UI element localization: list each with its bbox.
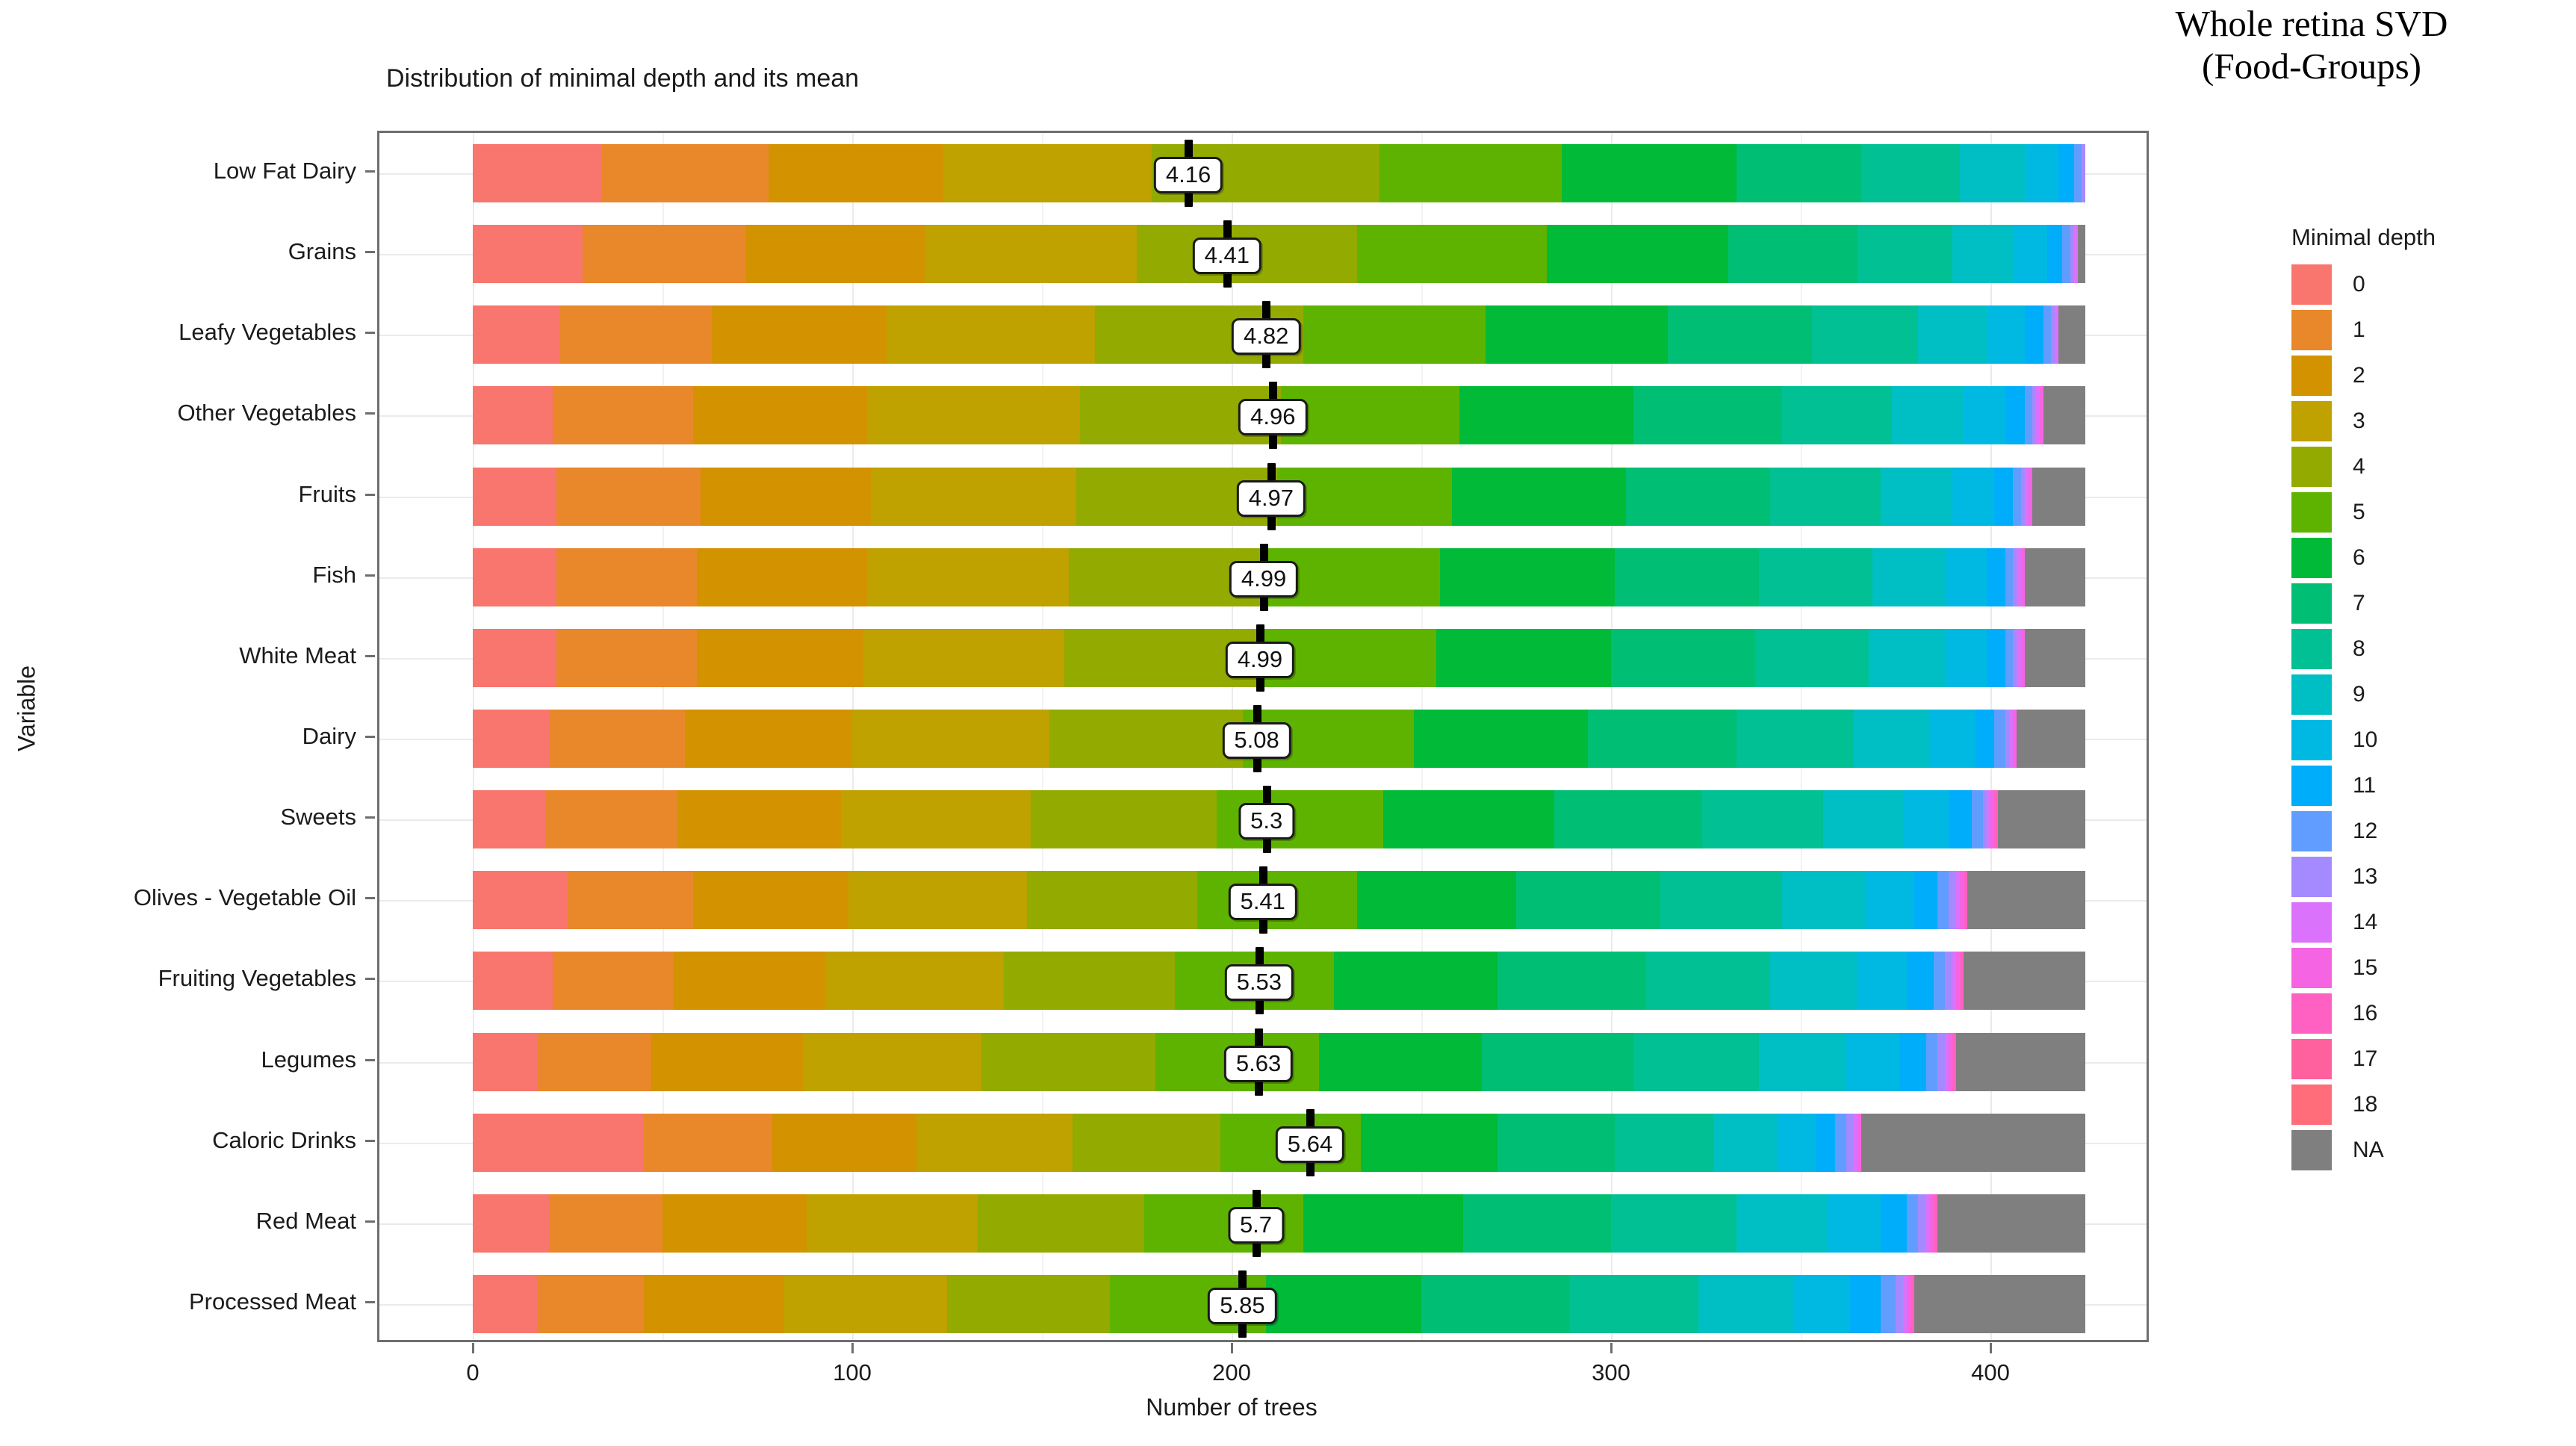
bar-segment[interactable] <box>1357 871 1516 929</box>
bar-segment[interactable] <box>916 1114 1072 1172</box>
bar-segment[interactable] <box>693 871 848 929</box>
bar-segment[interactable] <box>602 144 769 202</box>
x-axis-tick-mark <box>1231 1343 1233 1353</box>
bar-segment[interactable] <box>1759 548 1872 606</box>
bar-segment[interactable] <box>1357 225 1547 283</box>
bar-segment[interactable] <box>568 871 693 929</box>
mean-depth-label: 5.7 <box>1228 1207 1284 1244</box>
bar-segment[interactable] <box>1949 871 1956 929</box>
bar-segment[interactable] <box>1645 952 1771 1010</box>
bar-segment[interactable] <box>1998 790 2085 848</box>
bar-row[interactable] <box>379 1114 2147 1172</box>
legend-color-swatch <box>2290 582 2333 625</box>
bar-segment[interactable] <box>1516 871 1660 929</box>
bar-segment[interactable] <box>537 1033 651 1091</box>
bar-segment[interactable] <box>1857 952 1907 1010</box>
legend-item[interactable]: 8 <box>2290 626 2536 671</box>
bar-segment[interactable] <box>1588 710 1736 768</box>
y-axis-tick-label: Other Vegetables <box>177 400 356 426</box>
bar-segment[interactable] <box>871 468 1076 526</box>
bar-segment[interactable] <box>1073 1114 1220 1172</box>
legend-color-swatch <box>2290 536 2333 580</box>
legend-item[interactable]: 5 <box>2290 489 2536 535</box>
bar-segment[interactable] <box>1759 1033 1846 1091</box>
stacked-bar[interactable] <box>473 225 2085 283</box>
legend-color-swatch <box>2290 901 2333 944</box>
legend-color-swatch <box>2290 400 2333 443</box>
bar-segment[interactable] <box>1611 1194 1737 1253</box>
bar-segment[interactable] <box>693 386 868 444</box>
legend-item-label: 2 <box>2353 363 2365 388</box>
bar-segment[interactable] <box>473 1194 549 1253</box>
bar-segment[interactable] <box>1835 1114 1846 1172</box>
bar-segment[interactable] <box>772 1114 916 1172</box>
bar-segment[interactable] <box>978 1194 1145 1253</box>
bar-segment[interactable] <box>803 1033 981 1091</box>
legend-color-swatch <box>2290 992 2333 1035</box>
bar-segment[interactable] <box>473 225 583 283</box>
bar-segment[interactable] <box>2005 548 2013 606</box>
bar-segment[interactable] <box>697 629 864 687</box>
x-axis-tick-mark <box>1990 1343 1992 1353</box>
bar-segment[interactable] <box>1892 386 1964 444</box>
bar-segment[interactable] <box>1319 1033 1482 1091</box>
bar-segment[interactable] <box>674 952 825 1010</box>
y-axis-tick-label: Fruits <box>299 481 357 508</box>
bar-segment[interactable] <box>1949 790 1971 848</box>
bar-segment[interactable] <box>2043 386 2085 444</box>
mean-depth-label: 4.99 <box>1229 561 1298 598</box>
bar-segment[interactable] <box>1952 468 1994 526</box>
bar-segment[interactable] <box>2013 468 2020 526</box>
bar-segment[interactable] <box>769 144 943 202</box>
bar-segment[interactable] <box>1770 952 1857 1010</box>
bar-segment[interactable] <box>1816 1114 1834 1172</box>
legend-item[interactable]: 11 <box>2290 763 2536 808</box>
bar-segment[interactable] <box>662 1194 807 1253</box>
bar-segment[interactable] <box>1459 386 1634 444</box>
bar-segment[interactable] <box>1421 1275 1569 1333</box>
bar-segment[interactable] <box>1049 710 1243 768</box>
bar-segment[interactable] <box>1896 1275 1903 1333</box>
bar-segment[interactable] <box>2058 144 2073 202</box>
bar-segment[interactable] <box>473 1275 537 1333</box>
bar-segment[interactable] <box>473 952 553 1010</box>
y-axis-tick-mark <box>365 251 375 253</box>
bar-segment[interactable] <box>746 225 925 283</box>
bar-segment[interactable] <box>644 1114 773 1172</box>
y-axis-tick-mark <box>365 897 375 899</box>
bar-segment[interactable] <box>867 548 1068 606</box>
legend-item-label: 10 <box>2353 727 2377 753</box>
legend-item[interactable]: 2 <box>2290 353 2536 398</box>
mean-depth-label: 4.97 <box>1237 480 1306 517</box>
bar-segment[interactable] <box>1440 548 1615 606</box>
bar-segment[interactable] <box>2025 548 2085 606</box>
y-axis-tick-mark <box>365 736 375 738</box>
bar-segment[interactable] <box>473 790 545 848</box>
legend-color-swatch <box>2290 263 2333 306</box>
bar-row[interactable] <box>379 144 2147 202</box>
bar-segment[interactable] <box>1937 1194 2085 1253</box>
bar-segment[interactable] <box>943 144 1152 202</box>
legend-item-label: 11 <box>2353 773 2376 798</box>
y-axis-tick-mark <box>365 978 375 980</box>
y-axis-tick-mark <box>365 655 375 657</box>
bar-segment[interactable] <box>1547 225 1729 283</box>
bar-segment[interactable] <box>1918 1194 1925 1253</box>
bar-segment[interactable] <box>1782 871 1866 929</box>
bar-segment[interactable] <box>473 629 556 687</box>
bar-segment[interactable] <box>1987 548 2005 606</box>
bar-segment[interactable] <box>1869 629 1945 687</box>
bar-segment[interactable] <box>1850 1275 1881 1333</box>
bar-segment[interactable] <box>887 305 1095 364</box>
bar-segment[interactable] <box>560 305 712 364</box>
bar-segment[interactable] <box>1281 386 1459 444</box>
bar-segment[interactable] <box>1846 1033 1899 1091</box>
bar-segment[interactable] <box>1914 1275 2085 1333</box>
legend-items: 0123456789101112131415161718NA <box>2290 261 2536 1173</box>
bar-segment[interactable] <box>549 710 686 768</box>
plot-area: 4.164.414.824.964.974.994.995.085.35.415… <box>379 133 2147 1340</box>
legend-item-label: 7 <box>2353 591 2365 616</box>
y-axis-tick-label: Grains <box>288 238 356 265</box>
page-title-line-2: (Food-Groups) <box>2073 46 2551 88</box>
legend-item-label: 15 <box>2353 955 2377 981</box>
y-axis-tick-label: Fish <box>312 562 356 589</box>
stacked-bar[interactable] <box>473 144 2085 202</box>
bar-segment[interactable] <box>852 710 1049 768</box>
bar-segment[interactable] <box>1854 710 1930 768</box>
bar-segment[interactable] <box>1569 1275 1698 1333</box>
y-axis-tick-label: Fruiting Vegetables <box>158 965 356 992</box>
legend-color-swatch <box>2290 810 2333 853</box>
bar-segment[interactable] <box>1334 952 1497 1010</box>
bar-segment[interactable] <box>556 629 697 687</box>
bar-segment[interactable] <box>1994 468 2013 526</box>
bar-segment[interactable] <box>1498 952 1645 1010</box>
bar-segment[interactable] <box>1266 1275 1421 1333</box>
bar-segment[interactable] <box>553 952 674 1010</box>
bar-segment[interactable] <box>537 1275 643 1333</box>
y-axis-tick-mark <box>365 816 375 819</box>
bar-segment[interactable] <box>1994 710 2005 768</box>
bar-segment[interactable] <box>549 1194 662 1253</box>
mean-depth-label: 4.96 <box>1238 399 1307 435</box>
bar-segment[interactable] <box>925 225 1137 283</box>
bar-segment[interactable] <box>1861 144 1960 202</box>
legend-item-label: 3 <box>2353 409 2365 434</box>
legend-color-swatch <box>2290 855 2333 899</box>
bar-segment[interactable] <box>1452 468 1627 526</box>
legend-item-label: 5 <box>2353 500 2365 525</box>
bar-segment[interactable] <box>1486 305 1668 364</box>
bar-segment[interactable] <box>1846 1114 1854 1172</box>
bar-segment[interactable] <box>556 548 697 606</box>
y-axis-tick-label: Sweets <box>280 804 356 831</box>
legend-color-swatch <box>2290 354 2333 397</box>
bar-segment[interactable] <box>1956 1033 2085 1091</box>
legend-item-label: 12 <box>2353 819 2377 844</box>
bar-segment[interactable] <box>1945 952 1952 1010</box>
bar-segment[interactable] <box>1782 386 1892 444</box>
bar-segment[interactable] <box>1937 871 1949 929</box>
legend-item-label: NA <box>2353 1138 2384 1163</box>
bar-segment[interactable] <box>1881 1194 1908 1253</box>
bar-segment[interactable] <box>1881 468 1953 526</box>
bar-segment[interactable] <box>644 1275 784 1333</box>
bar-segment[interactable] <box>473 710 549 768</box>
y-axis-tick-label: Leafy Vegetables <box>179 319 356 346</box>
bar-segment[interactable] <box>1964 386 2005 444</box>
legend-item-label: 18 <box>2353 1092 2377 1117</box>
bar-segment[interactable] <box>1383 790 1554 848</box>
bar-segment[interactable] <box>1937 1033 1945 1091</box>
stacked-bar[interactable] <box>473 1275 2085 1333</box>
legend-item[interactable]: 0 <box>2290 261 2536 307</box>
legend-item[interactable]: 14 <box>2290 899 2536 945</box>
bar-segment[interactable] <box>701 468 872 526</box>
y-axis-tick-label: White Meat <box>239 642 356 669</box>
bar-segment[interactable] <box>1907 952 1934 1010</box>
bar-segment[interactable] <box>1881 1275 1896 1333</box>
legend-item[interactable]: 13 <box>2290 854 2536 899</box>
bar-segment[interactable] <box>677 790 840 848</box>
legend-item-label: 13 <box>2353 864 2377 890</box>
bar-segment[interactable] <box>2013 225 2047 283</box>
bar-segment[interactable] <box>825 952 1004 1010</box>
bar-segment[interactable] <box>1967 871 2085 929</box>
bar-segment[interactable] <box>2025 144 2059 202</box>
bar-segment[interactable] <box>1361 1114 1498 1172</box>
bar-segment[interactable] <box>841 790 1031 848</box>
bar-segment[interactable] <box>2005 386 2024 444</box>
bar-segment[interactable] <box>473 1033 537 1091</box>
bar-segment[interactable] <box>1498 1114 1615 1172</box>
bar-segment[interactable] <box>1907 1194 1918 1253</box>
bar-segment[interactable] <box>1702 790 1824 848</box>
bar-segment[interactable] <box>1987 629 2005 687</box>
bar-segment[interactable] <box>1865 871 1914 929</box>
bar-segment[interactable] <box>2032 468 2085 526</box>
bar-segment[interactable] <box>712 305 887 364</box>
legend-item[interactable]: 6 <box>2290 535 2536 580</box>
legend-item[interactable]: 9 <box>2290 671 2536 717</box>
bar-segment[interactable] <box>2025 629 2085 687</box>
y-axis-tick-label: Red Meat <box>256 1208 356 1235</box>
bar-segment[interactable] <box>2058 305 2085 364</box>
bar-segment[interactable] <box>1930 710 1976 768</box>
bar-segment[interactable] <box>1615 548 1759 606</box>
bar-segment[interactable] <box>2062 225 2070 283</box>
legend-item[interactable]: 4 <box>2290 444 2536 489</box>
plot-subtitle: Distribution of minimal depth and its me… <box>386 64 859 93</box>
bar-segment[interactable] <box>473 871 568 929</box>
bar-segment[interactable] <box>473 386 553 444</box>
bar-segment[interactable] <box>1004 952 1175 1010</box>
bar-segment[interactable] <box>1554 790 1702 848</box>
bar-segment[interactable] <box>848 871 1027 929</box>
mean-depth-label: 4.82 <box>1232 318 1300 355</box>
legend-item-label: 6 <box>2353 545 2365 571</box>
y-axis-tick-label: Low Fat Dairy <box>214 158 356 184</box>
bar-segment[interactable] <box>1914 871 1937 929</box>
bar-segment[interactable] <box>1463 1194 1611 1253</box>
bar-segment[interactable] <box>867 386 1079 444</box>
bar-segment[interactable] <box>473 144 602 202</box>
bar-segment[interactable] <box>1823 790 1903 848</box>
bar-segment[interactable] <box>863 629 1064 687</box>
bar-segment[interactable] <box>1899 1033 1926 1091</box>
bar-segment[interactable] <box>807 1194 978 1253</box>
bar-segment[interactable] <box>1812 305 1918 364</box>
legend-item[interactable]: NA <box>2290 1127 2536 1173</box>
y-axis-tick-mark <box>365 1301 375 1303</box>
bar-segment[interactable] <box>1436 629 1611 687</box>
y-axis-tick-mark <box>365 574 375 577</box>
bar-segment[interactable] <box>1778 1114 1816 1172</box>
bar-segment[interactable] <box>556 468 701 526</box>
bar-segment[interactable] <box>545 790 678 848</box>
bar-segment[interactable] <box>2078 225 2085 283</box>
legend: Minimal depth 01234567891011121314151617… <box>2290 224 2536 1173</box>
bar-segment[interactable] <box>2082 144 2085 202</box>
bar-segment[interactable] <box>1960 144 2024 202</box>
bar-segment[interactable] <box>1660 871 1782 929</box>
bar-segment[interactable] <box>2025 386 2032 444</box>
bar-segment[interactable] <box>1633 386 1781 444</box>
y-axis-tick-mark <box>365 332 375 334</box>
bar-segment[interactable] <box>473 305 560 364</box>
bar-segment[interactable] <box>2017 710 2085 768</box>
x-axis-tick-mark <box>851 1343 854 1353</box>
mean-depth-label: 5.64 <box>1276 1126 1344 1163</box>
mean-depth-label: 4.99 <box>1226 642 1294 678</box>
bar-segment[interactable] <box>1027 871 1198 929</box>
bar-segment[interactable] <box>1737 1194 1828 1253</box>
bar-segment[interactable] <box>685 710 852 768</box>
bar-segment[interactable] <box>1626 468 1770 526</box>
legend-color-swatch <box>2290 1083 2333 1126</box>
bar-segment[interactable] <box>1972 790 1983 848</box>
y-axis-tick-label: Olives - Vegetable Oil <box>134 884 356 911</box>
page-title: Whole retina SVD (Food-Groups) <box>2073 3 2551 88</box>
y-axis-tick-label: Processed Meat <box>189 1288 356 1315</box>
legend-item-label: 1 <box>2353 317 2365 343</box>
bar-segment[interactable] <box>2005 629 2013 687</box>
legend-item-label: 9 <box>2353 682 2365 707</box>
bar-segment[interactable] <box>1755 629 1869 687</box>
bar-segment[interactable] <box>2074 144 2082 202</box>
bar-segment[interactable] <box>1952 225 2013 283</box>
bar-row[interactable] <box>379 225 2147 283</box>
bar-segment[interactable] <box>1827 1194 1880 1253</box>
bar-segment[interactable] <box>1303 1194 1462 1253</box>
bar-segment[interactable] <box>1414 710 1589 768</box>
y-axis-tick-mark <box>365 1220 375 1223</box>
bar-segment[interactable] <box>1031 790 1217 848</box>
x-axis-tick-label: 400 <box>1971 1359 2010 1386</box>
legend-item-label: 16 <box>2353 1001 2377 1026</box>
bar-segment[interactable] <box>1872 548 1945 606</box>
mean-depth-label: 4.16 <box>1154 157 1223 193</box>
legend-color-swatch <box>2290 673 2333 716</box>
bar-segment[interactable] <box>473 1114 644 1172</box>
bar-segment[interactable] <box>1926 1033 1937 1091</box>
bar-segment[interactable] <box>1976 710 1994 768</box>
bar-segment[interactable] <box>583 225 745 283</box>
mean-depth-label: 4.41 <box>1193 238 1261 274</box>
x-axis-title: Number of trees <box>473 1394 1990 1421</box>
bar-segment[interactable] <box>1945 548 1987 606</box>
bar-segment[interactable] <box>2043 305 2051 364</box>
legend-item[interactable]: 18 <box>2290 1082 2536 1127</box>
bar-segment[interactable] <box>1482 1033 1633 1091</box>
bar-segment[interactable] <box>2025 305 2043 364</box>
bar-segment[interactable] <box>1964 952 2085 1010</box>
bar-segment[interactable] <box>1918 305 1986 364</box>
bar-segment[interactable] <box>553 386 693 444</box>
bar-segment[interactable] <box>697 548 868 606</box>
bar-segment[interactable] <box>1737 710 1854 768</box>
bar-segment[interactable] <box>1793 1275 1850 1333</box>
bar-segment[interactable] <box>1698 1275 1793 1333</box>
bar-segment[interactable] <box>1857 225 1952 283</box>
legend-item[interactable]: 16 <box>2290 990 2536 1036</box>
bar-segment[interactable] <box>1562 144 1737 202</box>
legend-item-label: 8 <box>2353 636 2365 662</box>
bar-segment[interactable] <box>1770 468 1880 526</box>
y-axis-tick-mark <box>365 494 375 496</box>
bar-segment[interactable] <box>1861 1114 2085 1172</box>
mean-depth-label: 5.63 <box>1224 1046 1293 1082</box>
bar-segment[interactable] <box>473 548 556 606</box>
bar-segment[interactable] <box>1728 225 1857 283</box>
bar-segment[interactable] <box>1987 305 2025 364</box>
legend-color-swatch <box>2290 308 2333 352</box>
x-axis-tick-mark <box>472 1343 474 1353</box>
y-axis-tick-mark <box>365 1140 375 1142</box>
bar-segment[interactable] <box>1379 144 1562 202</box>
bar-segment[interactable] <box>473 468 556 526</box>
bar-segment[interactable] <box>1633 1033 1759 1091</box>
legend-title: Minimal depth <box>2291 224 2536 251</box>
legend-item[interactable]: 10 <box>2290 717 2536 763</box>
bar-segment[interactable] <box>1611 629 1755 687</box>
legend-item[interactable]: 3 <box>2290 398 2536 444</box>
plot-panel: 4.164.414.824.964.974.994.995.085.35.415… <box>377 131 2149 1342</box>
bar-segment[interactable] <box>981 1033 1156 1091</box>
bar-segment[interactable] <box>784 1275 947 1333</box>
legend-item[interactable]: 7 <box>2290 580 2536 626</box>
legend-item[interactable]: 17 <box>2290 1036 2536 1082</box>
bar-segment[interactable] <box>1934 952 1945 1010</box>
bar-segment[interactable] <box>651 1033 803 1091</box>
bar-segment[interactable] <box>1737 144 1862 202</box>
legend-item[interactable]: 1 <box>2290 307 2536 353</box>
legend-item[interactable]: 12 <box>2290 808 2536 854</box>
bar-segment[interactable] <box>1903 790 1949 848</box>
legend-item[interactable]: 15 <box>2290 945 2536 990</box>
bar-segment[interactable] <box>947 1275 1110 1333</box>
bar-segment[interactable] <box>1945 629 1987 687</box>
bar-segment[interactable] <box>1615 1114 1713 1172</box>
bar-segment[interactable] <box>2047 225 2062 283</box>
bar-segment[interactable] <box>1303 305 1486 364</box>
bar-segment[interactable] <box>1668 305 1812 364</box>
bar-segment[interactable] <box>1713 1114 1778 1172</box>
